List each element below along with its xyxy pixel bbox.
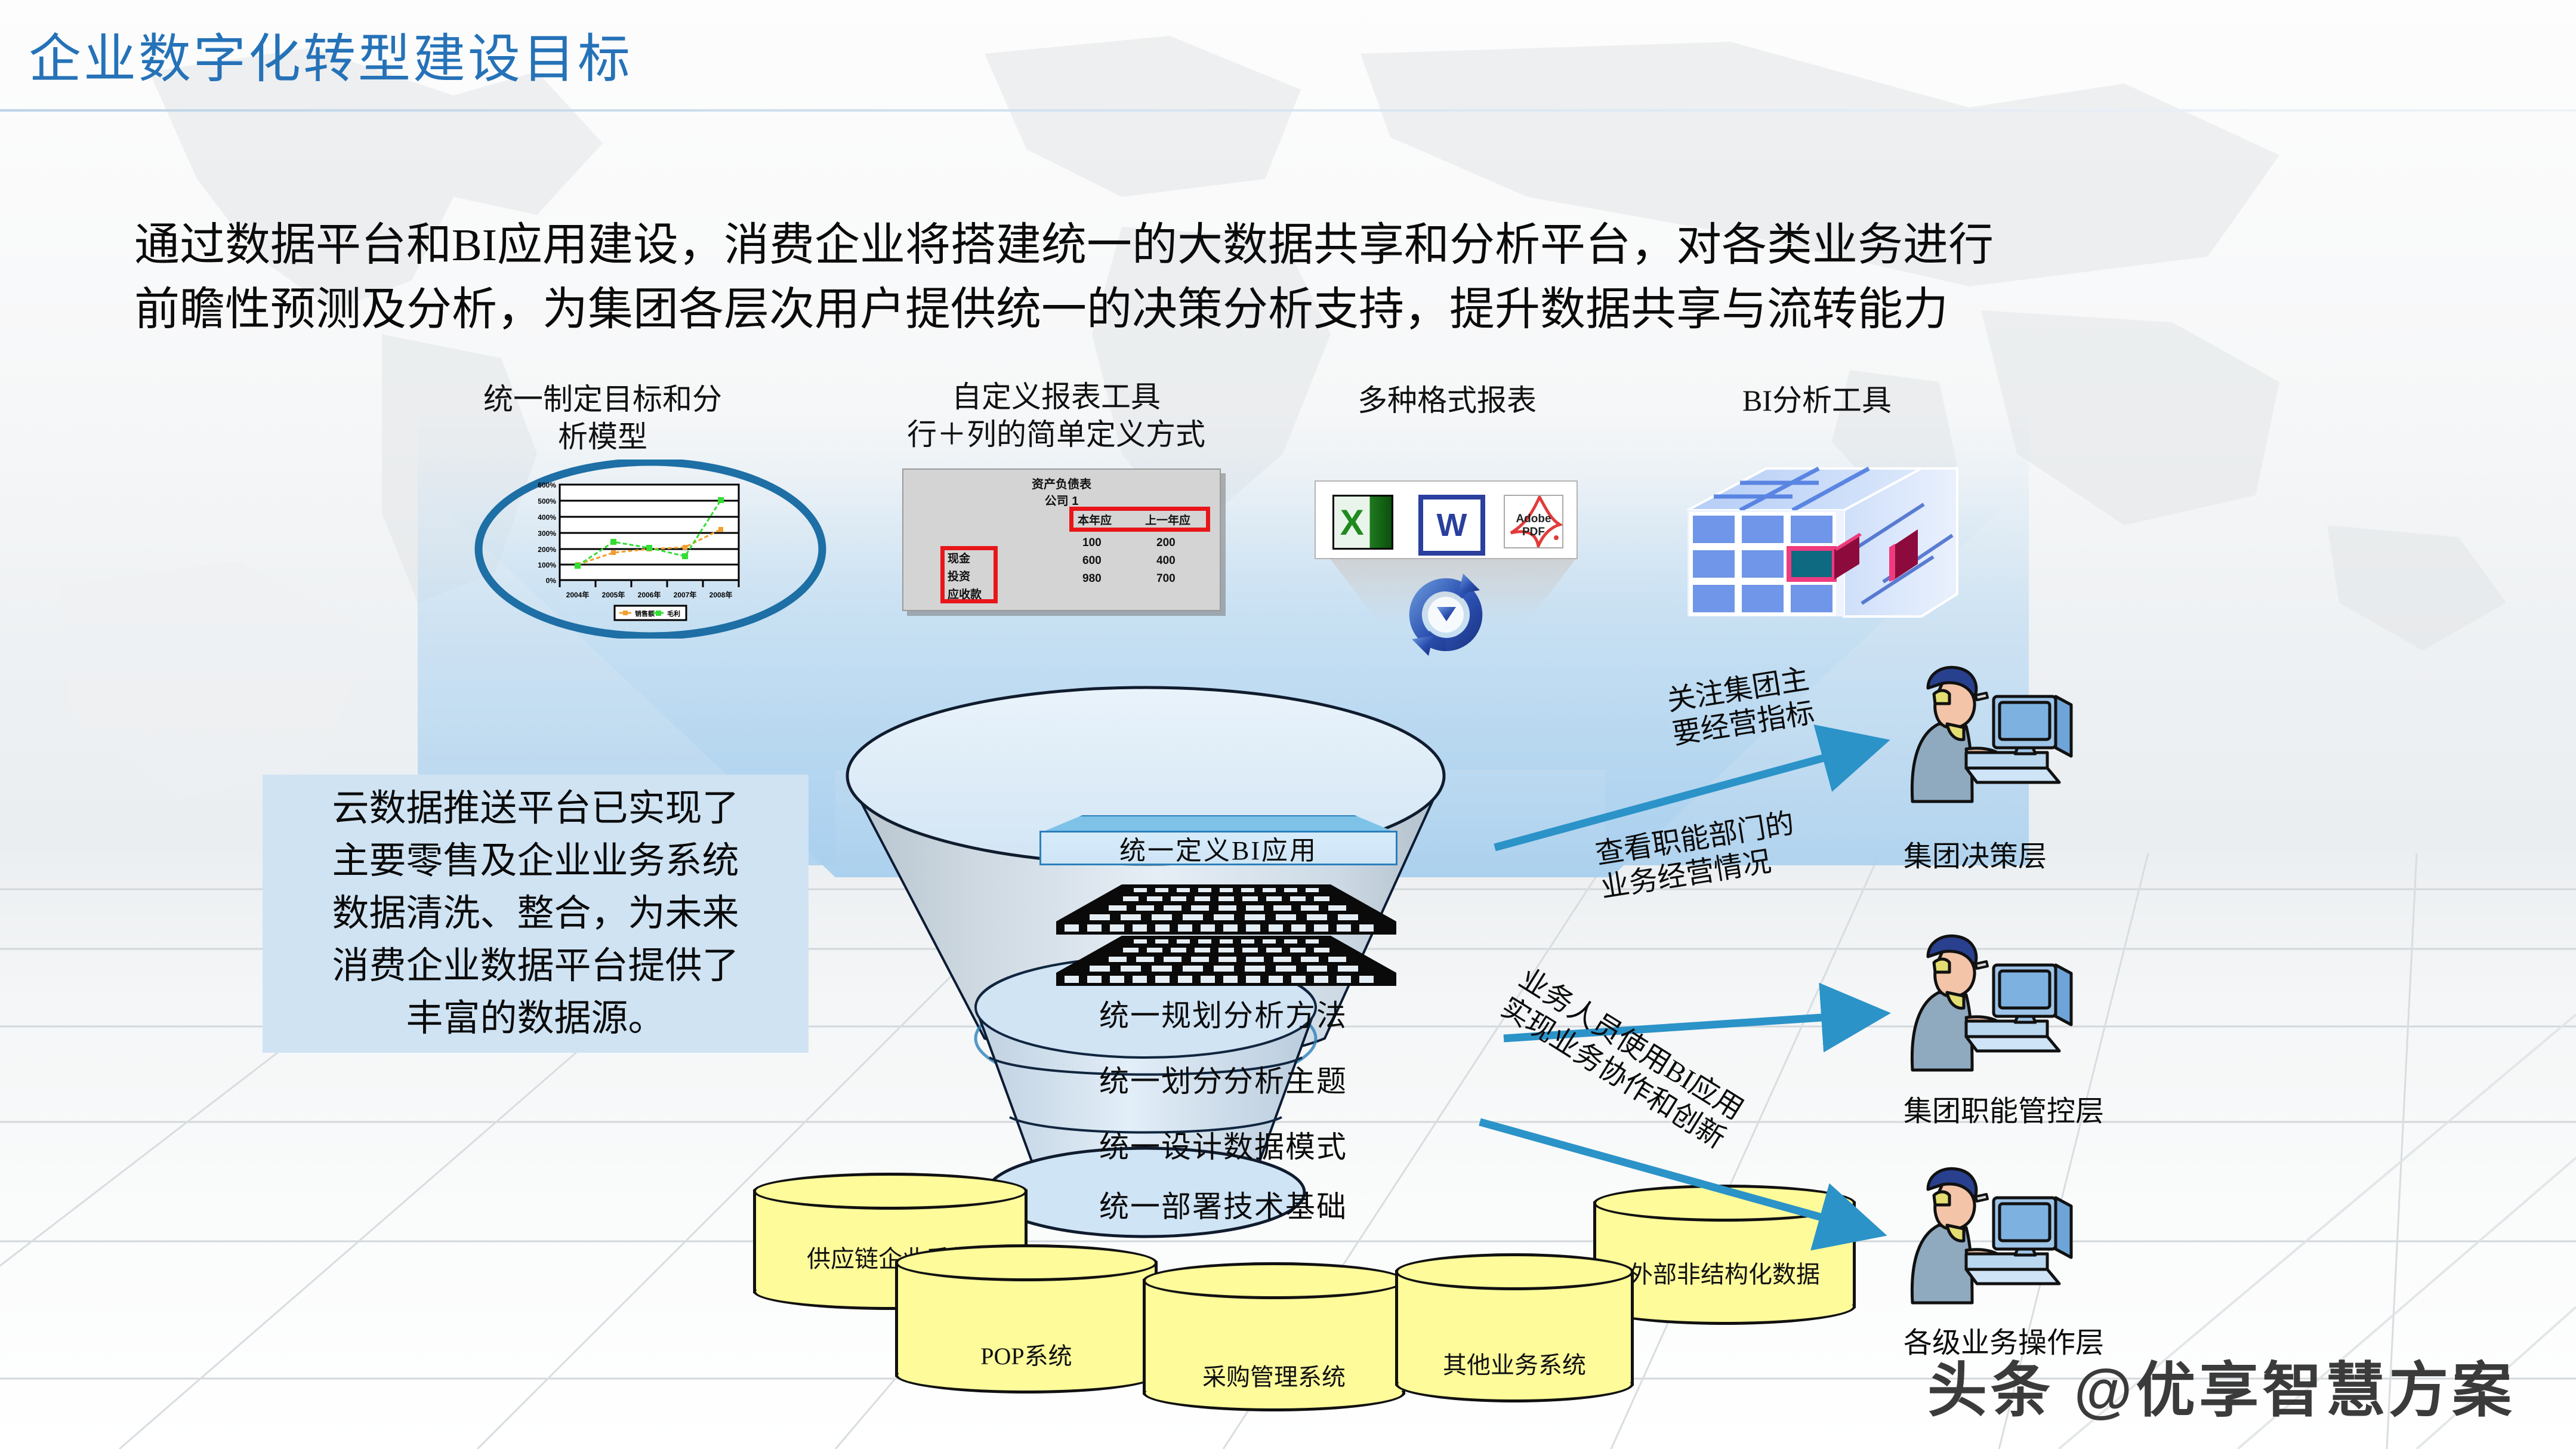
watermark: 头条 @优享智慧方案 [1927, 1342, 2515, 1428]
pdf-icon-glyph: Adobe PDF [1506, 513, 1561, 539]
person-at-computer-icon-2 [1877, 1161, 2074, 1316]
person-at-computer-icon-0 [1877, 659, 2074, 815]
audience-label-0: 集团决策层 [1904, 833, 2047, 874]
person-at-computer-icon-1 [1877, 928, 2074, 1083]
audience-label-1: 集团职能管控层 [1904, 1087, 2104, 1129]
flow-arrows [0, 0, 2576, 1449]
